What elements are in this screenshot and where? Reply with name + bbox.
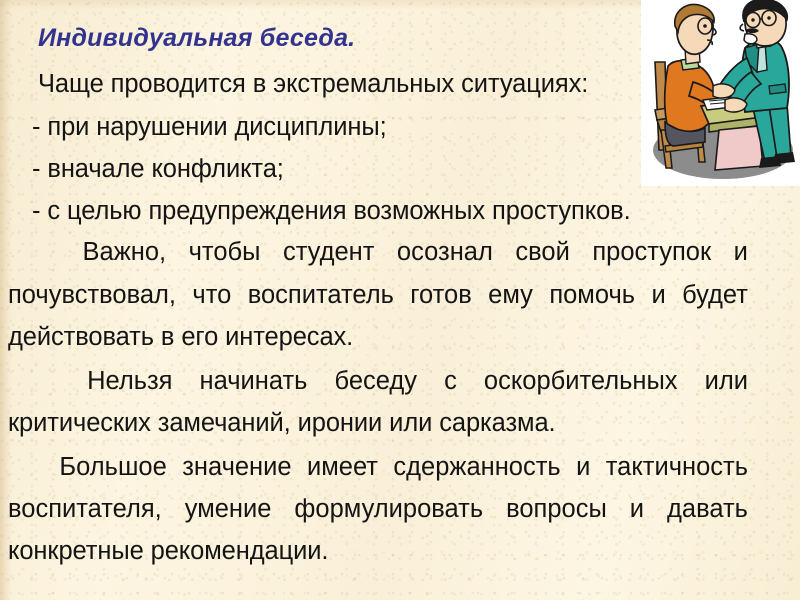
paragraph-nelzya-line-2: критических замечаний, иронии или сарказ… <box>8 411 556 437</box>
word: что <box>192 283 231 309</box>
bullet-item-3: - с целью предупреждения возможных прост… <box>32 199 631 225</box>
word: воспитателя, <box>8 497 162 523</box>
word: проступок <box>592 240 711 266</box>
word: формулировать <box>294 497 483 523</box>
word: и <box>651 283 665 309</box>
word: давать <box>667 497 748 523</box>
word: свой <box>515 240 569 266</box>
word: и <box>734 240 748 266</box>
word: Нельзя <box>87 369 172 395</box>
word: умение <box>185 497 272 523</box>
word: ему <box>488 283 533 309</box>
word: тактичность <box>606 455 748 481</box>
intro-line: Чаще проводится в экстремальных ситуация… <box>38 72 588 98</box>
line-indent <box>8 369 60 395</box>
bullet-item-1: - при нарушении дисциплины; <box>32 115 387 141</box>
word: значение <box>182 455 291 481</box>
paragraph-bolshoe-line-3: конкретные рекомендации. <box>8 539 328 565</box>
word: Большое <box>59 455 166 481</box>
word: и <box>630 497 644 523</box>
word: оскорбительных <box>484 369 678 395</box>
slide-text-body: Индивидуальная беседа. Чаще проводится в… <box>0 0 800 600</box>
word: Важно, <box>83 240 167 266</box>
bullet-item-2: - вначале конфликта; <box>32 157 284 183</box>
paragraph-bolshoe-line-2: воспитателя, умение формулировать вопрос… <box>8 497 748 523</box>
word: осознал <box>397 240 493 266</box>
word: с <box>444 369 457 395</box>
word: студент <box>283 240 374 266</box>
paragraph-vazhno-line-2: почувствовал, что воспитатель готов ему … <box>8 283 748 309</box>
word: чтобы <box>189 240 261 266</box>
line-indent <box>8 240 60 266</box>
word: вопросы <box>506 497 607 523</box>
paragraph-nelzya-line-1: Нельзя начинать беседу с оскорбительных … <box>8 369 748 395</box>
word: сдержанность <box>393 455 560 481</box>
word: беседу <box>335 369 418 395</box>
word: будет <box>682 283 748 309</box>
word: и <box>576 455 590 481</box>
word: воспитатель <box>248 283 394 309</box>
word: помочь <box>549 283 635 309</box>
line-indent <box>8 455 44 481</box>
word: или <box>705 369 748 395</box>
word: имеет <box>307 455 378 481</box>
word: почувствовал, <box>8 283 176 309</box>
paragraph-bolshoe-line-1: Большое значение имеет сдержанность и та… <box>8 455 748 481</box>
slide-title: Индивидуальная беседа. <box>38 26 355 52</box>
slide-canvas: Индивидуальная беседа. Чаще проводится в… <box>0 0 800 600</box>
paragraph-vazhno-line-1: Важно, чтобы студент осознал свой просту… <box>8 240 748 266</box>
paragraph-vazhno-line-3: действовать в его интересах. <box>8 325 353 351</box>
word: начинать <box>200 369 308 395</box>
word: готов <box>410 283 471 309</box>
